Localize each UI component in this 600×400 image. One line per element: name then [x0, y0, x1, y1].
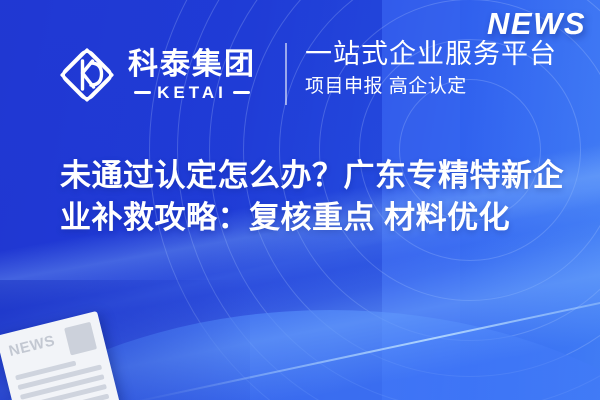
article-title: 未通过认定怎么办？广东专精特新企业补救攻略：复核重点 材料优化 — [60, 155, 568, 239]
tagline-primary: 一站式企业服务平台 — [305, 38, 575, 72]
newspaper-thumbnail — [64, 322, 97, 356]
tagline-secondary: 项目申报 高企认定 — [305, 74, 575, 100]
brand-name-en-row: KETAI — [134, 84, 250, 101]
news-wordmark: NEWS — [487, 6, 586, 42]
ketai-logo-icon — [58, 46, 116, 104]
tagline-block: 一站式企业服务平台 项目申报 高企认定 — [305, 38, 575, 99]
news-banner: NEWS 科泰集团 KETAI 一站式企业服务平台 项目申 — [0, 0, 600, 400]
brand-name-cn: 科泰集团 — [128, 49, 256, 81]
brand-header: 科泰集团 KETAI — [58, 40, 256, 110]
brand-name-en: KETAI — [157, 84, 227, 101]
brand-wordmark: 科泰集团 KETAI — [128, 49, 256, 101]
brand-tagline-divider — [285, 43, 287, 105]
newspaper-masthead: NEWS — [7, 333, 56, 359]
rule-left-icon — [134, 91, 151, 94]
rule-right-icon — [233, 91, 250, 94]
